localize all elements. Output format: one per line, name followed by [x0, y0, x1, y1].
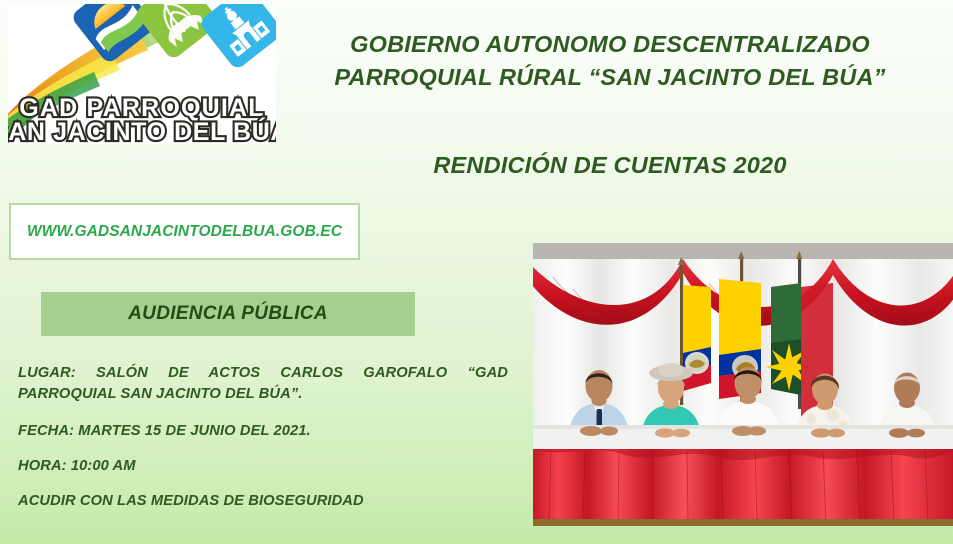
event-photo-artwork: [533, 243, 953, 526]
detail-bioseguridad: ACUDIR CON LAS MEDIDAS DE BIOSEGURIDAD: [18, 493, 508, 509]
audiencia-publica-banner: AUDIENCIA PÚBLICA: [41, 292, 415, 336]
detail-lugar: LUGAR: SALÓN DE ACTOS CARLOS GAROFALO “G…: [18, 363, 508, 406]
detail-fecha: FECHA: MARTES 15 DE JUNIO DEL 2021.: [18, 423, 508, 439]
website-url-text: WWW.GADSANJACINTODELBUA.GOB.EC: [27, 223, 342, 241]
page-title: GOBIERNO AUTONOMO DESCENTRALIZADO PARROQ…: [290, 28, 930, 95]
website-url-box[interactable]: WWW.GADSANJACINTODELBUA.GOB.EC: [9, 203, 360, 260]
page-subtitle: RENDICIÓN DE CUENTAS 2020: [300, 152, 920, 179]
logo-artwork: GAD PARROQUIAL SAN JACINTO DEL BÚA: [8, 4, 276, 144]
logo-wordmark: GAD PARROQUIAL SAN JACINTO DEL BÚA: [8, 94, 276, 144]
event-photo: [533, 243, 953, 526]
logo-line-2: SAN JACINTO DEL BÚA: [8, 116, 276, 144]
event-details: LUGAR: SALÓN DE ACTOS CARLOS GAROFALO “G…: [18, 363, 508, 509]
detail-hora: HORA: 10:00 AM: [18, 458, 508, 474]
gad-parroquial-logo: GAD PARROQUIAL SAN JACINTO DEL BÚA: [8, 4, 276, 144]
presentation-slide: GAD PARROQUIAL SAN JACINTO DEL BÚA GOBIE…: [0, 0, 953, 544]
audiencia-publica-label: AUDIENCIA PÚBLICA: [128, 303, 328, 325]
